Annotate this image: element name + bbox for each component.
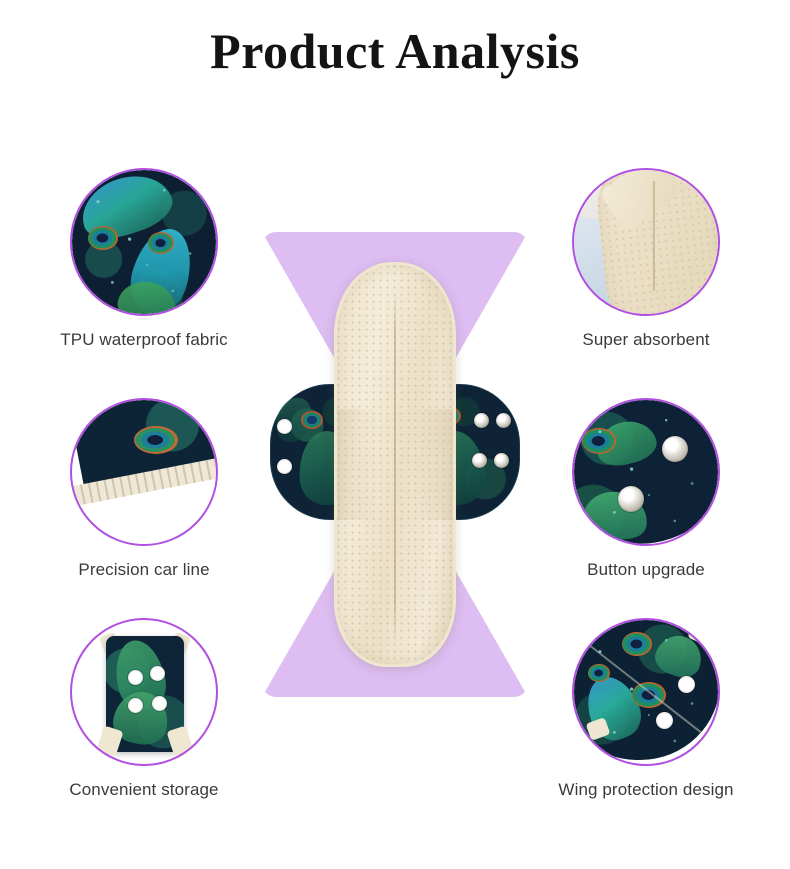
- hero-product-image: [262, 232, 528, 697]
- snap-button-icon: [277, 419, 292, 434]
- circle-clip: [574, 170, 718, 314]
- feature-label-precision-car-line: Precision car line: [32, 560, 256, 580]
- feature-label-wing-protection-design: Wing protection design: [534, 780, 758, 800]
- circle-clip: [574, 620, 718, 764]
- fabric-fold: [599, 170, 686, 232]
- circle-clip: [574, 400, 718, 544]
- snap-button-icon: [472, 453, 487, 468]
- feature-super-absorbent[interactable]: Super absorbent: [534, 168, 758, 350]
- product-analysis-page: Product Analysis TPU waterproof fabric: [0, 0, 790, 869]
- circle-clip: [72, 620, 216, 764]
- circle-clip: [72, 400, 216, 544]
- feature-image-button-upgrade: [572, 398, 720, 546]
- feature-tpu-waterproof-fabric[interactable]: TPU waterproof fabric: [32, 168, 256, 350]
- snap-button-icon: [662, 436, 688, 462]
- feature-precision-car-line[interactable]: Precision car line: [32, 398, 256, 580]
- feature-image-convenient-storage: [70, 618, 218, 766]
- feature-convenient-storage[interactable]: Convenient storage: [32, 618, 256, 800]
- page-title: Product Analysis: [0, 22, 790, 80]
- feature-label-button-upgrade: Button upgrade: [534, 560, 758, 580]
- feature-image-wing-protection-design: [572, 618, 720, 766]
- snap-button-icon: [150, 666, 165, 681]
- feature-label-convenient-storage: Convenient storage: [32, 780, 256, 800]
- seam-line: [653, 181, 655, 291]
- snap-button-icon: [277, 459, 292, 474]
- feature-image-precision-car-line: [70, 398, 218, 546]
- peacock-eye-icon: [134, 426, 178, 454]
- feature-label-tpu-waterproof-fabric: TPU waterproof fabric: [32, 330, 256, 350]
- snap-button-icon: [128, 698, 143, 713]
- snap-button-icon: [656, 712, 673, 729]
- feature-label-super-absorbent: Super absorbent: [534, 330, 758, 350]
- absorbent-layer: [593, 170, 718, 314]
- pad-absorbent-core: [334, 262, 456, 667]
- feature-wing-protection-design[interactable]: Wing protection design: [534, 618, 758, 800]
- star-dots-overlay: [574, 400, 718, 544]
- star-dots-overlay: [72, 170, 216, 314]
- feature-image-super-absorbent: [572, 168, 720, 316]
- snap-button-icon: [678, 676, 695, 693]
- snap-button-icon: [152, 696, 167, 711]
- center-seam-line: [394, 291, 396, 643]
- circle-clip: [72, 170, 216, 314]
- peacock-eye-icon: [301, 411, 323, 429]
- snap-button-icon: [474, 413, 489, 428]
- snap-button-icon: [128, 670, 143, 685]
- snap-button-icon: [494, 453, 509, 468]
- snap-button-icon: [496, 413, 511, 428]
- snap-button-icon: [618, 486, 644, 512]
- feature-button-upgrade[interactable]: Button upgrade: [534, 398, 758, 580]
- feature-image-tpu-waterproof-fabric: [70, 168, 218, 316]
